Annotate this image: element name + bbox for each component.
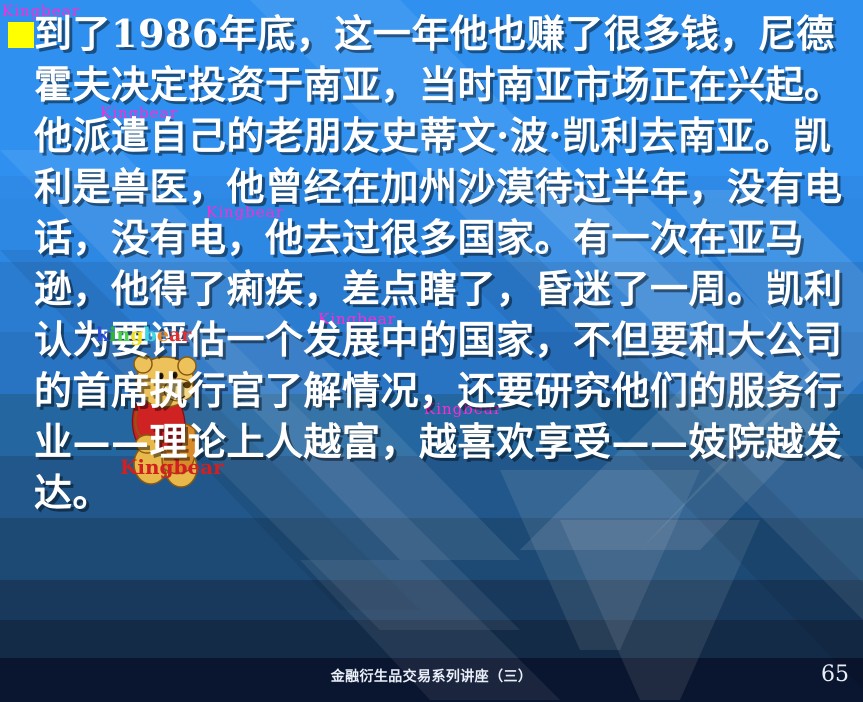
background-band	[0, 620, 863, 658]
bullet-marker-square	[8, 22, 34, 48]
kingbear-letter: e	[157, 324, 169, 346]
page-number: 65	[821, 662, 849, 687]
kingbear-letter: k	[96, 324, 109, 346]
kingbear-watermark-rainbow: kingbear	[96, 324, 191, 346]
slide-footer: 金融衍生品交易系列讲座（三） 65	[0, 656, 863, 702]
kingbear-letter: ar	[169, 324, 191, 346]
kingbear-letter: g	[130, 324, 143, 346]
kingbear-letter: b	[144, 324, 157, 346]
presentation-slide: Kingbear Kingbear Kingbear Kingbear King…	[0, 0, 863, 702]
kingbear-letter: n	[116, 324, 130, 346]
background-band	[0, 580, 863, 620]
slide-body-text: 到了1986年底，这一年他也赚了很多钱，尼德霍夫决定投资于南亚，当时南亚市场正在…	[34, 8, 854, 518]
background-band	[0, 518, 863, 580]
footer-title: 金融衍生品交易系列讲座（三）	[0, 666, 863, 686]
